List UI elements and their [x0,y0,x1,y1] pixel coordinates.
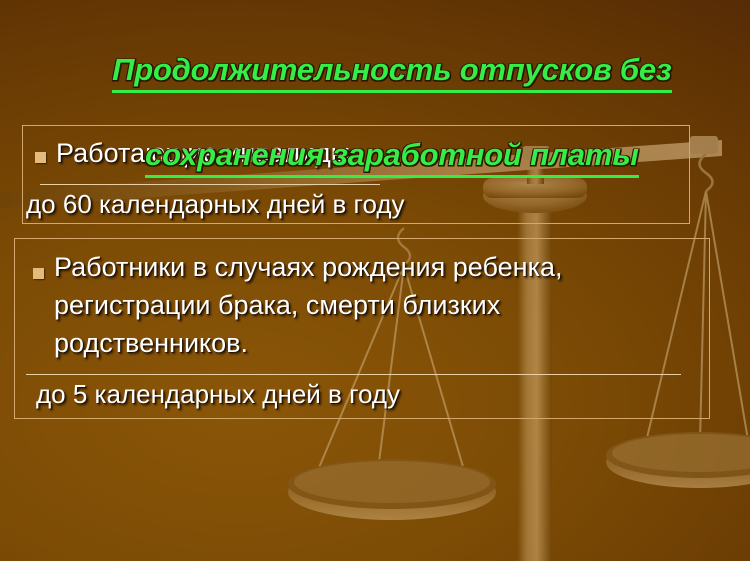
box-2-bullet-line-2: регистрации брака, смерти близких [54,288,500,323]
box-2-bullet-line-1: Работники в случаях рождения ребенка, [54,250,563,285]
box-2-divider [26,374,681,375]
slide-title-line-1: Продолжительность отпусков без [112,49,671,93]
slide-title: Продолжительность отпусков без сохранени… [0,8,750,219]
presentation-slide: Продолжительность отпусков без сохранени… [0,0,750,561]
box-2-sub-text: до 5 календарных дней в году [36,377,400,412]
box-2-bullet-line-3: родственников. [54,326,248,361]
slide-title-line-2: сохранения заработной платы [145,134,639,178]
